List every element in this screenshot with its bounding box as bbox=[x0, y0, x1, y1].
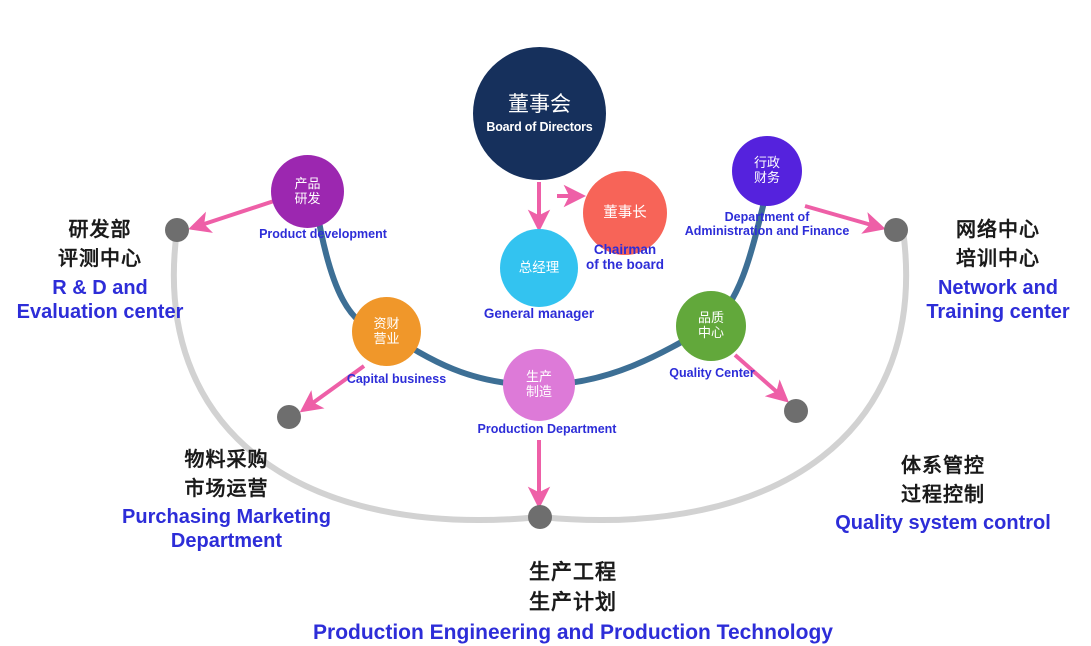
node-administration-and-finance-cn: 行政 财务 bbox=[754, 156, 780, 185]
node-quality-center-cn: 品质 中心 bbox=[698, 311, 724, 340]
outer-label-quality-system-control-en: Quality system control bbox=[790, 511, 1091, 535]
node-dot-production-engineering[interactable] bbox=[528, 505, 552, 529]
caption-capital-business: Capital business bbox=[329, 372, 464, 386]
caption-chairman-of-the-board: Chairman of the board bbox=[555, 242, 695, 273]
outer-label-network-and-training-center-cn2: 培训中心 bbox=[905, 245, 1091, 274]
outer-label-production-engineering-en: Production Engineering and Production Te… bbox=[235, 620, 911, 645]
node-product-development-cn: 产品 研发 bbox=[294, 177, 320, 206]
node-dot-quality-system-control[interactable] bbox=[784, 399, 808, 423]
node-board-of-directors-cn: 董事会 bbox=[508, 93, 571, 117]
node-board-of-directors[interactable]: 董事会 Board of Directors bbox=[473, 47, 606, 180]
node-production-department-cn: 生产 制造 bbox=[526, 370, 552, 399]
outer-label-production-engineering: 生产工程 生产计划 Production Engineering and Pro… bbox=[235, 558, 911, 645]
outer-label-network-and-training-center: 网络中心 培训中心 Network and Training center bbox=[905, 216, 1091, 324]
outer-label-rd-and-evaluation-center-cn1: 研发部 bbox=[0, 216, 200, 245]
node-quality-center[interactable]: 品质 中心 bbox=[676, 291, 746, 361]
caption-production-department: Production Department bbox=[463, 422, 631, 436]
outer-label-rd-and-evaluation-center-en: R & D and Evaluation center bbox=[0, 276, 200, 324]
outer-label-purchasing-marketing-department: 物料采购 市场运营 Purchasing Marketing Departmen… bbox=[83, 446, 370, 553]
node-production-department[interactable]: 生产 制造 bbox=[503, 349, 575, 421]
node-capital-business[interactable]: 资财 营业 bbox=[352, 297, 421, 366]
node-general-manager-cn: 总经理 bbox=[519, 260, 560, 275]
org-chart-diagram: 董事会 Board of Directors 董事长 Chairman of t… bbox=[0, 0, 1091, 646]
outer-label-network-and-training-center-en: Network and Training center bbox=[905, 276, 1091, 324]
outer-label-production-engineering-cn1: 生产工程 bbox=[235, 558, 911, 588]
outer-label-quality-system-control-cn1: 体系管控 bbox=[790, 452, 1091, 481]
outer-label-production-engineering-cn2: 生产计划 bbox=[235, 588, 911, 618]
outer-label-rd-and-evaluation-center-cn2: 评测中心 bbox=[0, 245, 200, 274]
caption-general-manager: General manager bbox=[469, 306, 609, 321]
outer-label-purchasing-marketing-department-cn2: 市场运营 bbox=[83, 475, 370, 504]
caption-quality-center: Quality Center bbox=[648, 366, 776, 380]
node-board-of-directors-en: Board of Directors bbox=[486, 120, 592, 134]
caption-product-development: Product development bbox=[243, 227, 403, 241]
node-dot-purchasing-marketing[interactable] bbox=[277, 405, 301, 429]
outer-label-purchasing-marketing-department-en: Purchasing Marketing Department bbox=[83, 505, 370, 553]
node-chairman-of-the-board-cn: 董事长 bbox=[603, 205, 647, 221]
node-administration-and-finance[interactable]: 行政 财务 bbox=[732, 136, 802, 206]
outer-label-quality-system-control: 体系管控 过程控制 Quality system control bbox=[790, 452, 1091, 535]
outer-label-purchasing-marketing-department-cn1: 物料采购 bbox=[83, 446, 370, 475]
outer-label-network-and-training-center-cn1: 网络中心 bbox=[905, 216, 1091, 245]
node-capital-business-cn: 资财 营业 bbox=[373, 317, 399, 346]
node-product-development[interactable]: 产品 研发 bbox=[271, 155, 344, 228]
outer-label-rd-and-evaluation-center: 研发部 评测中心 R & D and Evaluation center bbox=[0, 216, 200, 324]
arrow-product-development-to-rd-center bbox=[192, 201, 274, 228]
caption-administration-and-finance: Department of Administration and Finance bbox=[677, 210, 857, 239]
outer-label-quality-system-control-cn2: 过程控制 bbox=[790, 481, 1091, 510]
